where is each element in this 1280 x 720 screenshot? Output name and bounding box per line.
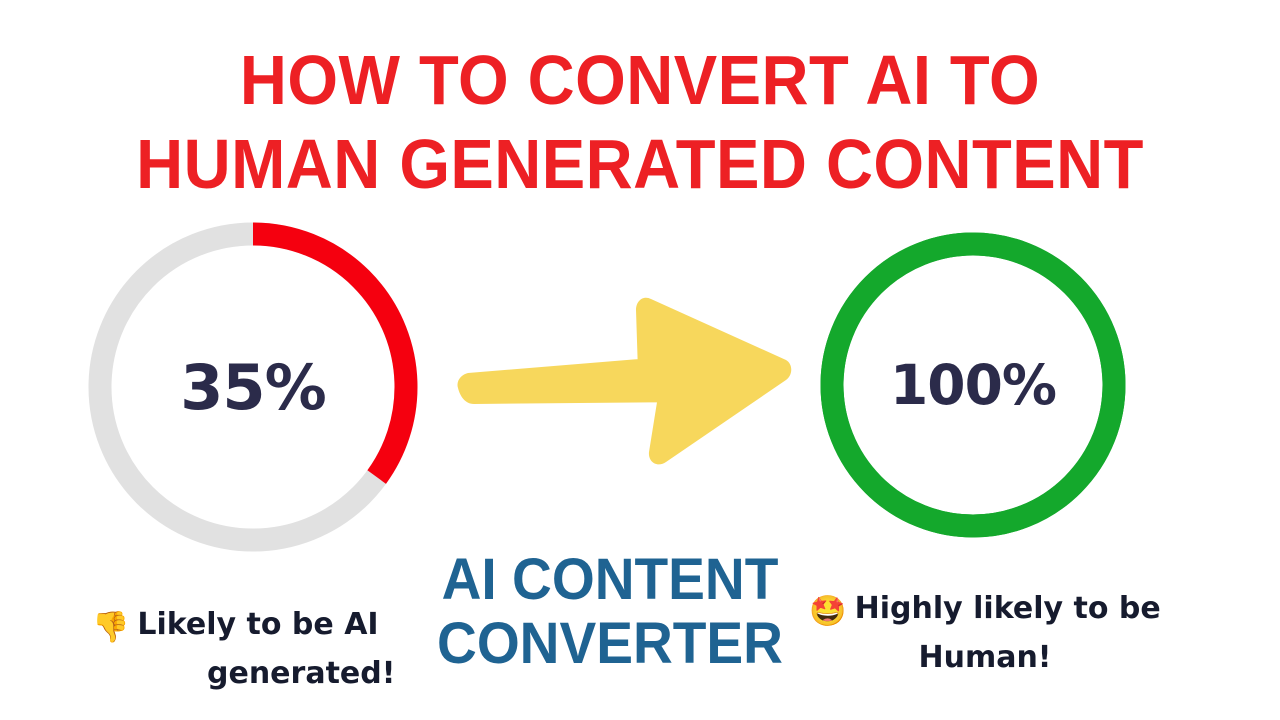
gauge-ai-score-before: 35%	[88, 222, 418, 552]
gauge-ai-score-after: 100%	[820, 232, 1126, 538]
caption-left-line-2: generated!	[92, 651, 422, 697]
caption-right-line-2: Human!	[800, 635, 1170, 681]
gauge-value-after: 100%	[820, 353, 1126, 417]
caption-right-line-1: 🤩Highly likely to be	[809, 591, 1160, 626]
caption-ai-generated: 👎Likely to be AI generated!	[92, 602, 422, 697]
caption-left-text-1: Likely to be AI	[137, 607, 378, 642]
caption-human-generated: 🤩Highly likely to be Human!	[800, 586, 1170, 681]
thumbs-down-emoji: 👎	[92, 610, 129, 645]
caption-right-text-1: Highly likely to be	[855, 591, 1161, 626]
right-arrow-icon	[452, 292, 794, 472]
brand-line-1: AI CONTENT	[411, 548, 810, 612]
page-title: HOW TO CONVERT AI TO HUMAN GENERATED CON…	[0, 38, 1280, 206]
brand-line-2: CONVERTER	[411, 612, 810, 676]
arrow-shape	[457, 298, 791, 465]
caption-left-line-1: 👎Likely to be AI	[92, 607, 379, 642]
title-line-2: HUMAN GENERATED CONTENT	[45, 122, 1235, 206]
gauge-value-before: 35%	[88, 351, 418, 424]
thumbnail-canvas: HOW TO CONVERT AI TO HUMAN GENERATED CON…	[0, 0, 1280, 720]
title-line-1: HOW TO CONVERT AI TO	[45, 38, 1235, 122]
brand-label: AI CONTENT CONVERTER	[400, 548, 820, 676]
